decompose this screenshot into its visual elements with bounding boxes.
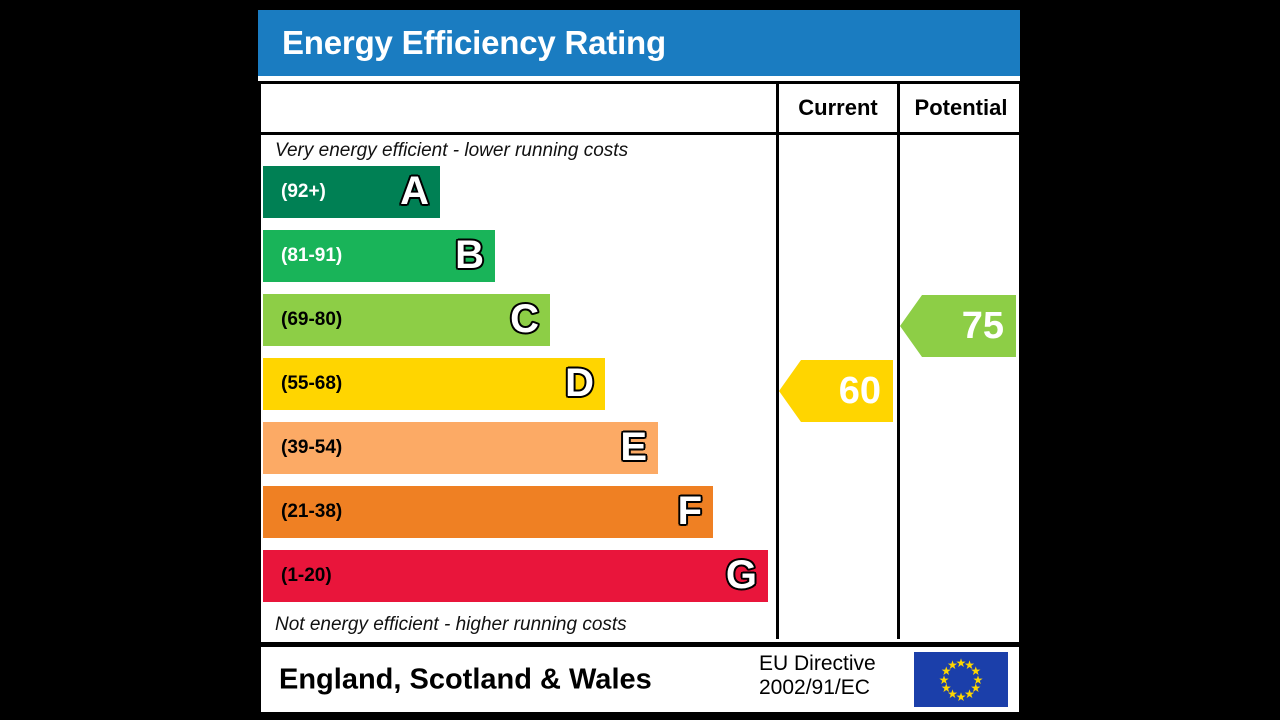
band-letter-f: F	[678, 491, 702, 531]
band-letter-a: A	[400, 171, 429, 211]
rating-band-d: (55-68)D	[263, 358, 605, 410]
directive-line-1: EU Directive	[759, 652, 907, 676]
band-letter-e: E	[620, 427, 647, 467]
band-range-d: (55-68)	[281, 373, 342, 395]
rating-table: Current Potential Very energy efficient …	[258, 81, 1022, 645]
band-letter-g: G	[726, 555, 757, 595]
potential-rating-arrow: 75	[900, 295, 1016, 357]
table-header-row: Current Potential	[261, 84, 1019, 135]
potential-rating-value: 75	[962, 307, 1004, 345]
column-header-current: Current	[776, 84, 897, 132]
band-letter-d: D	[565, 363, 594, 403]
current-rating-arrow: 60	[779, 360, 893, 422]
footer-directive: EU Directive 2002/91/EC	[759, 652, 907, 699]
band-range-e: (39-54)	[281, 437, 342, 459]
rating-band-e: (39-54)E	[263, 422, 658, 474]
band-range-c: (69-80)	[281, 309, 342, 331]
band-range-g: (1-20)	[281, 565, 332, 587]
rating-band-c: (69-80)C	[263, 294, 550, 346]
band-letter-c: C	[510, 299, 539, 339]
directive-line-2: 2002/91/EC	[759, 676, 907, 700]
title-bar: Energy Efficiency Rating	[258, 10, 1020, 76]
rating-band-b: (81-91)B	[263, 230, 495, 282]
band-range-f: (21-38)	[281, 501, 342, 523]
footer-bar: England, Scotland & Wales EU Directive 2…	[258, 644, 1022, 715]
column-divider-potential	[897, 132, 900, 639]
rating-band-a: (92+)A	[263, 166, 440, 218]
column-divider-current	[776, 132, 779, 639]
current-rating-value: 60	[839, 372, 881, 410]
epc-certificate: Energy Efficiency Rating Current Potenti…	[258, 10, 1020, 712]
caption-very-efficient: Very energy efficient - lower running co…	[275, 140, 628, 162]
band-letter-b: B	[455, 235, 484, 275]
rating-band-f: (21-38)F	[263, 486, 713, 538]
column-header-potential: Potential	[897, 84, 1022, 132]
caption-not-efficient: Not energy efficient - higher running co…	[275, 614, 627, 636]
rating-band-g: (1-20)G	[263, 550, 768, 602]
eu-flag-icon: ★★★★★★★★★★★★	[914, 652, 1008, 707]
eu-star-icon: ★	[947, 659, 958, 671]
band-range-b: (81-91)	[281, 245, 342, 267]
page-title: Energy Efficiency Rating	[282, 24, 666, 62]
band-range-a: (92+)	[281, 181, 326, 203]
footer-region-label: England, Scotland & Wales	[279, 663, 652, 696]
